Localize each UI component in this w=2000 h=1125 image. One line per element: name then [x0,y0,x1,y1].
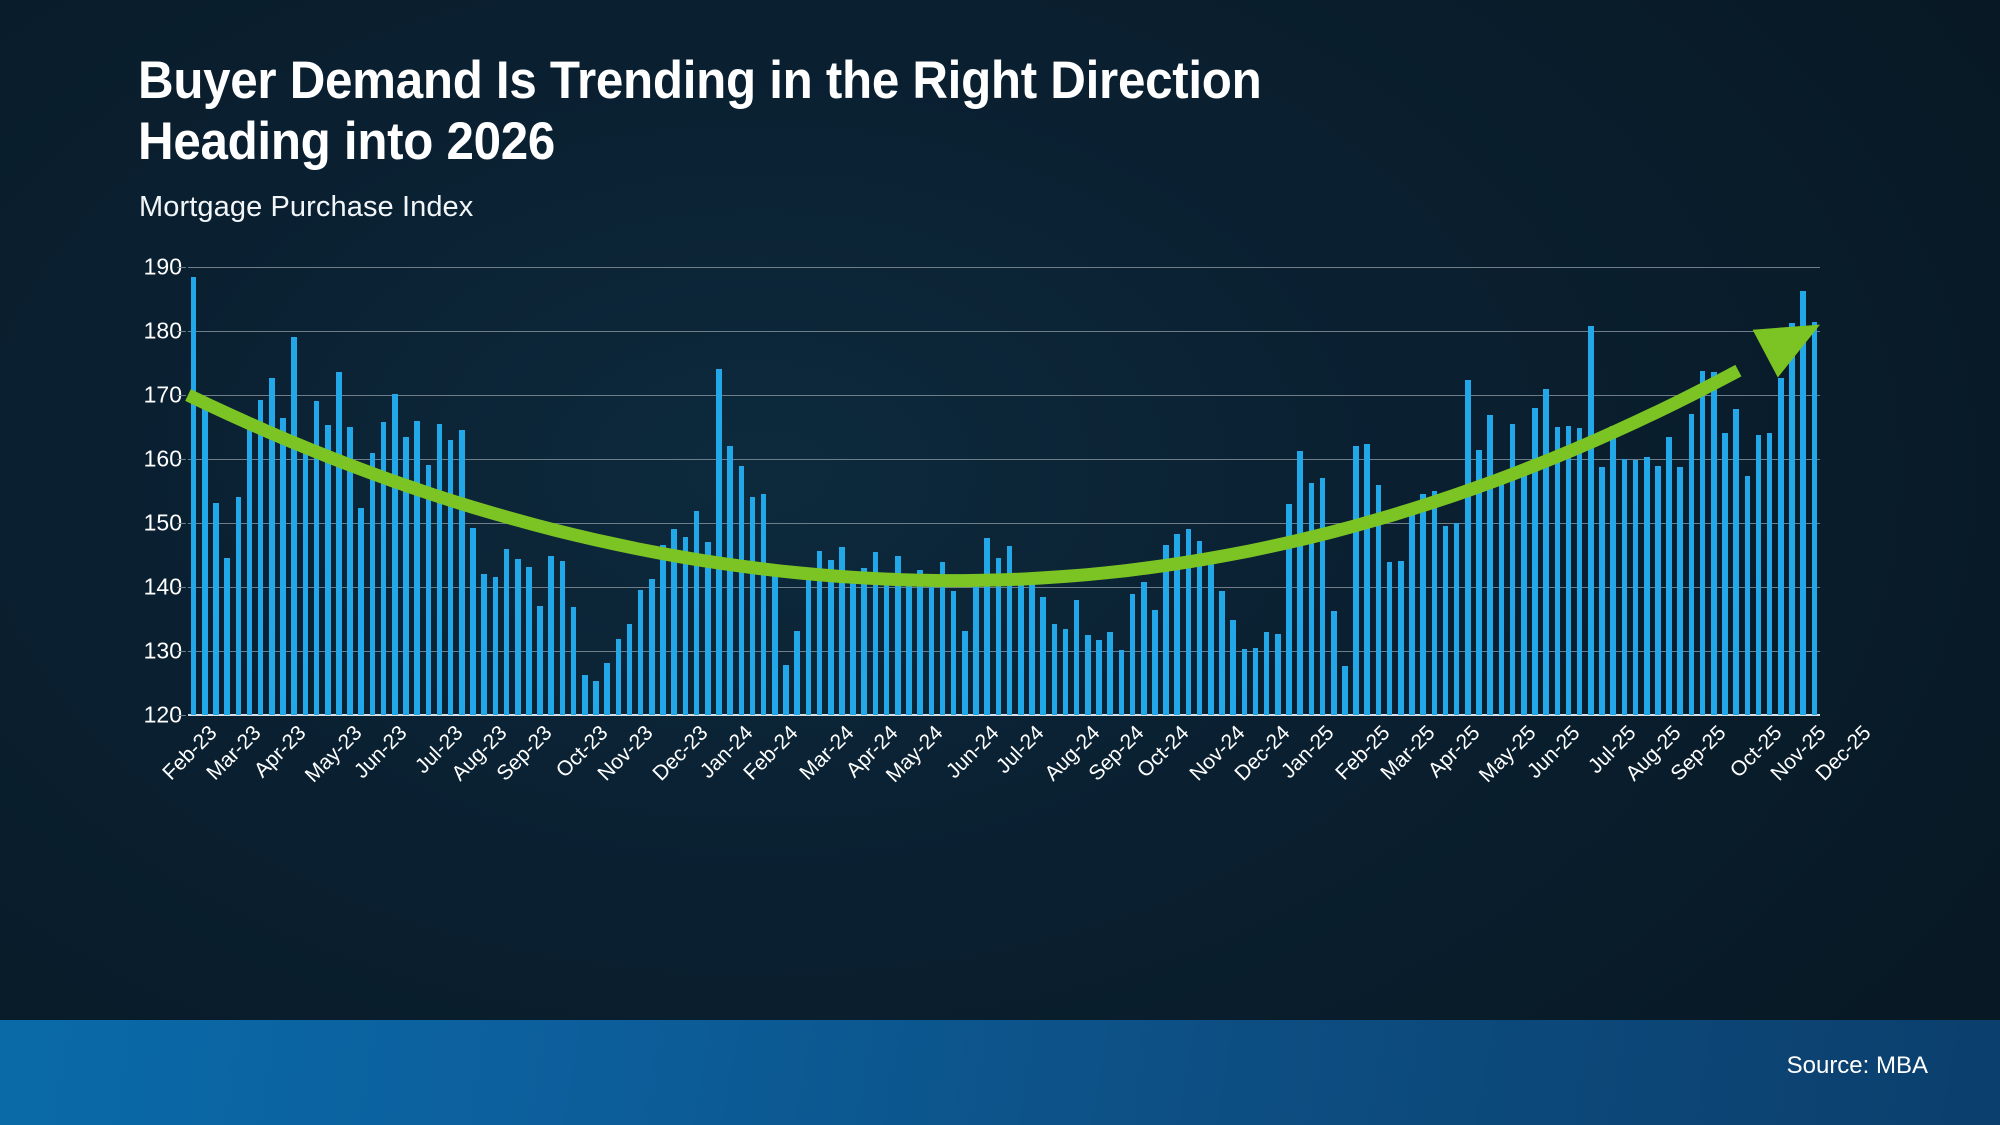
source-attribution: Source: MBA [1787,1052,1928,1080]
page-title: Buyer Demand Is Trending in the Right Di… [138,50,1440,172]
y-tick-mark-170 [177,395,186,396]
trend-curve [188,371,1738,581]
x-axis-tick-mar-24: Mar-24 [796,722,858,784]
trend-line [188,267,1820,715]
x-axis-labels: Feb-23Mar-23Apr-23May-23Jun-23Jul-23Aug-… [188,722,1820,872]
y-tick-mark-140 [177,587,186,588]
y-tick-mark-180 [177,331,186,332]
footer-band: Source: MBA [0,1020,2000,1125]
x-axis-tick-may-25: May-25 [1475,722,1539,786]
slide-canvas: Buyer Demand Is Trending in the Right Di… [0,0,2000,1125]
y-tick-mark-190 [177,267,186,268]
x-axis-tick-dec-23: Dec-23 [650,722,713,785]
x-axis-tick-may-23: May-23 [301,722,365,786]
y-axis-labels: 120130140150160170180190 [120,267,182,715]
trend-arrowhead-icon [1753,325,1820,378]
y-tick-mark-130 [177,651,186,652]
chart-plot-area [188,267,1820,715]
y-tick-mark-150 [177,523,186,524]
y-tick-mark-160 [177,459,186,460]
chart-subtitle: Mortgage Purchase Index [139,191,473,224]
x-axis-tick-jun-24: Jun-24 [943,722,1003,782]
y-tick-mark-120 [177,715,186,716]
